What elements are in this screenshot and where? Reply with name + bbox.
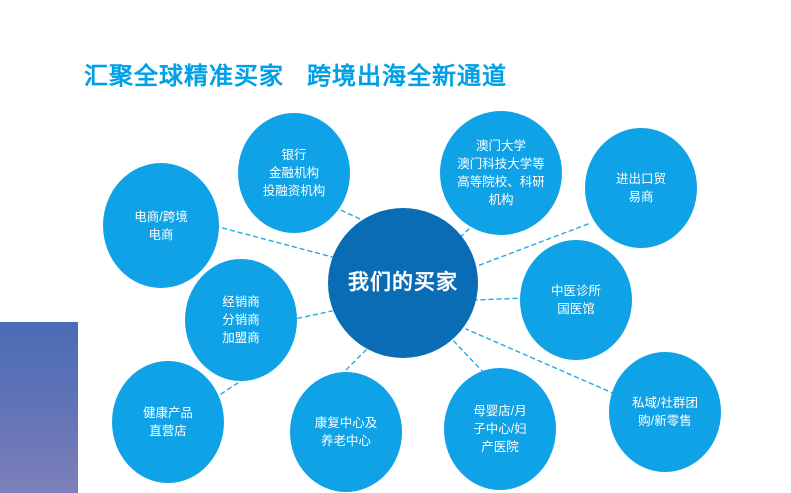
slide-canvas: 汇聚全球精准买家 跨境出海全新通道 我们的买家 电商/跨境 电商 银行 金融机构…	[0, 0, 791, 493]
page-title: 汇聚全球精准买家 跨境出海全新通道	[84, 62, 507, 92]
node-health-store[interactable]: 健康产品 直营店	[112, 361, 224, 483]
node-universities-label: 澳门大学 澳门科技大学等 高等院校、科研 机构	[453, 137, 549, 209]
node-maternal[interactable]: 母婴店/月 子中心/妇 产医院	[444, 368, 556, 490]
node-import-export-label: 进出口贸 易商	[612, 170, 670, 206]
node-ecommerce[interactable]: 电商/跨境 电商	[103, 163, 219, 288]
node-import-export[interactable]: 进出口贸 易商	[585, 128, 697, 248]
node-finance-label: 银行 金融机构 投融资机构	[259, 146, 330, 200]
node-private-domain[interactable]: 私域/社群团 购/新零售	[609, 352, 721, 472]
node-tcm-clinic-label: 中医诊所 国医馆	[547, 282, 605, 318]
node-universities[interactable]: 澳门大学 澳门科技大学等 高等院校、科研 机构	[440, 111, 562, 235]
center-node-label: 我们的买家	[344, 270, 462, 296]
node-private-domain-label: 私域/社群团 购/新零售	[628, 394, 702, 430]
node-health-store-label: 健康产品 直营店	[139, 404, 197, 440]
connector-maternal	[447, 334, 484, 373]
node-distributor-label: 经销商 分销商 加盟商	[218, 293, 264, 347]
node-maternal-label: 母婴店/月 子中心/妇 产医院	[469, 402, 530, 456]
connector-tcm-clinic	[476, 298, 525, 300]
decorative-gradient-block	[0, 322, 78, 493]
node-ecommerce-label: 电商/跨境 电商	[130, 208, 191, 244]
node-distributor[interactable]: 经销商 分销商 加盟商	[185, 259, 297, 381]
center-node-our-buyers[interactable]: 我们的买家	[328, 208, 478, 358]
node-rehab[interactable]: 康复中心及 养老中心	[290, 372, 402, 492]
connector-ecommerce	[215, 226, 336, 258]
node-rehab-label: 康复中心及 养老中心	[311, 414, 382, 450]
node-tcm-clinic[interactable]: 中医诊所 国医馆	[520, 240, 632, 360]
node-finance[interactable]: 银行 金融机构 投融资机构	[238, 113, 350, 233]
